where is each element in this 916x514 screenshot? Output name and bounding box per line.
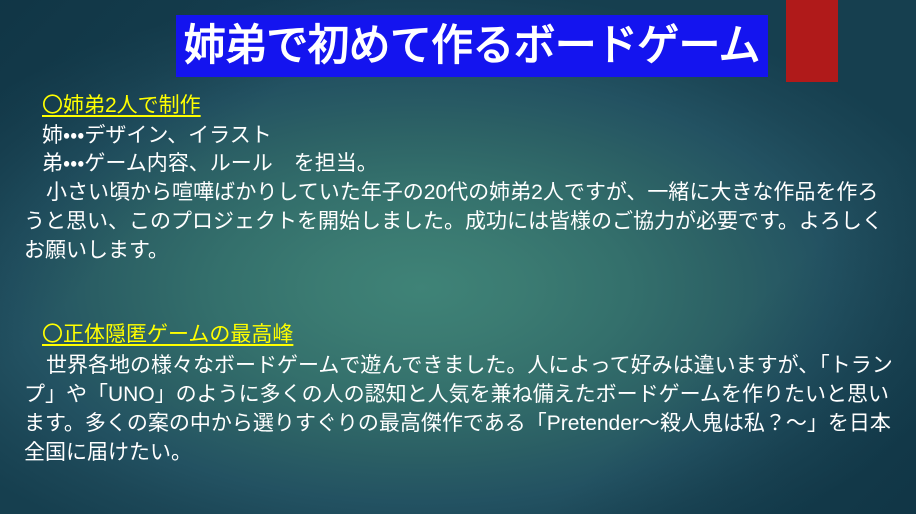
section-2-paragraph: 世界各地の様々なボードゲームで遊んできました。人によって好みは違いますが、「トラ… — [24, 351, 896, 467]
content-section-2: 〇正体隠匿ゲームの最高峰 世界各地の様々なボードゲームで遊んできました。人によっ… — [14, 321, 902, 467]
section-heading-2: 〇正体隠匿ゲームの最高峰 — [42, 321, 293, 349]
presentation-slide: 姉弟で初めて作るボードゲーム 〇姉弟2人で制作 姉・・・デザイン、イラスト 弟・… — [0, 0, 916, 514]
accent-bar-decoration — [786, 0, 838, 82]
section-1-paragraph: 小さい頃から喧嘩ばかりしていた年子の20代の姉弟2人ですが、一緒に大きな作品を作… — [24, 178, 896, 265]
slide-title-text: 姉弟で初めて作るボードゲーム — [184, 25, 760, 68]
section-1-sub-line-2: 弟・・・ゲーム内容、ルール を担当。 — [42, 150, 902, 178]
slide-title-box: 姉弟で初めて作るボードゲーム — [176, 15, 768, 77]
content-section-1: 〇姉弟2人で制作 姉・・・デザイン、イラスト 弟・・・ゲーム内容、ルール を担当… — [14, 92, 902, 265]
section-heading-1: 〇姉弟2人で制作 — [42, 92, 201, 120]
slide-body-content: 〇姉弟2人で制作 姉・・・デザイン、イラスト 弟・・・ゲーム内容、ルール を担当… — [14, 92, 902, 467]
section-1-sub-line-1: 姉・・・デザイン、イラスト — [42, 122, 902, 150]
